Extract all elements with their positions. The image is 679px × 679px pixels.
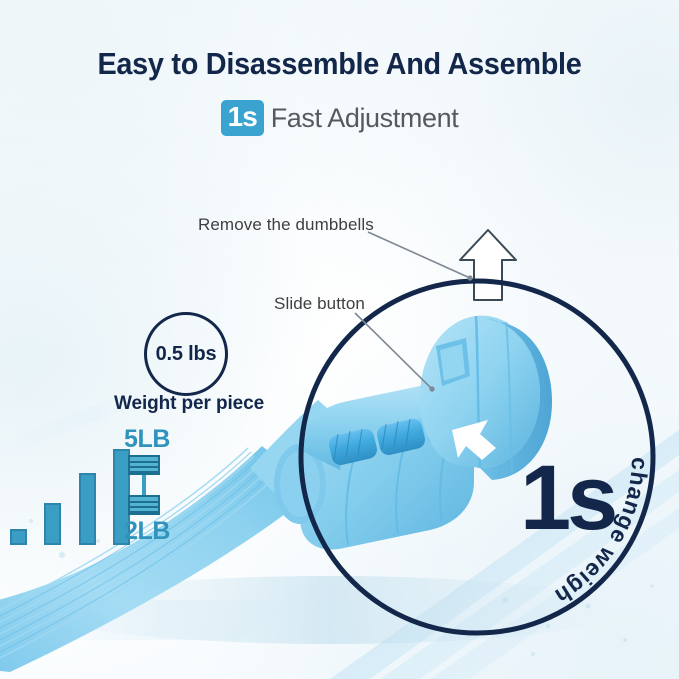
chart-bar: [79, 473, 96, 545]
dumbbell-plate-bottom: [128, 495, 160, 515]
leader-lines: [0, 0, 679, 679]
dumbbell-plate-top: [128, 455, 160, 475]
range-max-label: 5LB: [124, 425, 204, 454]
annotation-slide-button: Slide button: [274, 294, 365, 314]
weight-per-piece-caption: Weight per piece: [114, 393, 254, 415]
weight-range-bar-chart: [10, 445, 130, 545]
weight-range-group: 5LB 2LB: [118, 425, 198, 545]
chart-bar: [10, 529, 27, 545]
weight-per-piece-badge: 0.5 lbs: [144, 312, 228, 396]
annotation-remove-dumbbells: Remove the dumbbells: [198, 215, 374, 235]
infographic-canvas: Easy to Disassemble And Assemble 1s Fast…: [0, 0, 679, 679]
dumbbell-icon: [123, 455, 165, 517]
dumbbell-bar: [142, 475, 146, 497]
weight-per-piece-value: 0.5 lbs: [156, 343, 217, 366]
chart-bar: [44, 503, 61, 545]
range-min-label: 2LB: [124, 517, 204, 546]
